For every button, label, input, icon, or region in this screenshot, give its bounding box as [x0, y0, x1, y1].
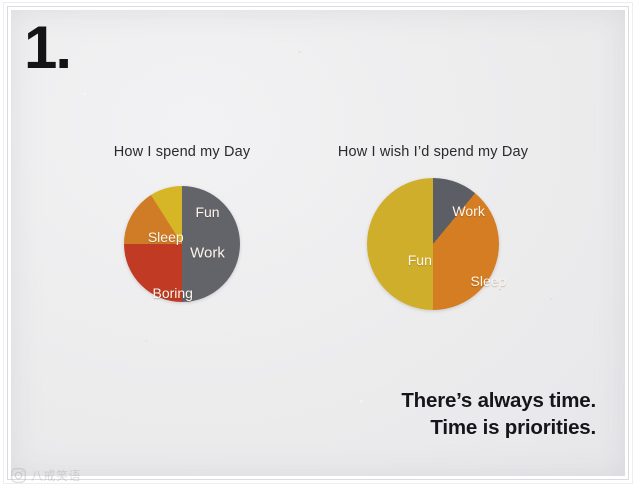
tagline-line-1: There’s always time.	[401, 387, 596, 414]
chart-title-left: How I spend my Day	[72, 144, 292, 160]
pie-left-disc	[124, 186, 240, 302]
chart-title-right: How I wish I’d spend my Day	[303, 144, 563, 160]
slide-photo: 1. How I spend my Day Work Boring Sleep …	[0, 0, 638, 493]
pie-left: Work Boring Sleep Fun	[124, 186, 240, 302]
chart-how-i-wish-id-spend-my-day: How I wish I’d spend my Day Work Sleep F…	[303, 144, 563, 310]
slide-number: 1.	[24, 18, 70, 78]
pie-right: Work Sleep Fun	[367, 178, 499, 310]
tagline: There’s always time. Time is priorities.	[401, 387, 596, 441]
chart-how-i-spend-my-day: How I spend my Day Work Boring Sleep Fun	[72, 144, 292, 302]
tagline-line-2: Time is priorities.	[401, 414, 596, 441]
pie-right-disc	[367, 178, 499, 310]
